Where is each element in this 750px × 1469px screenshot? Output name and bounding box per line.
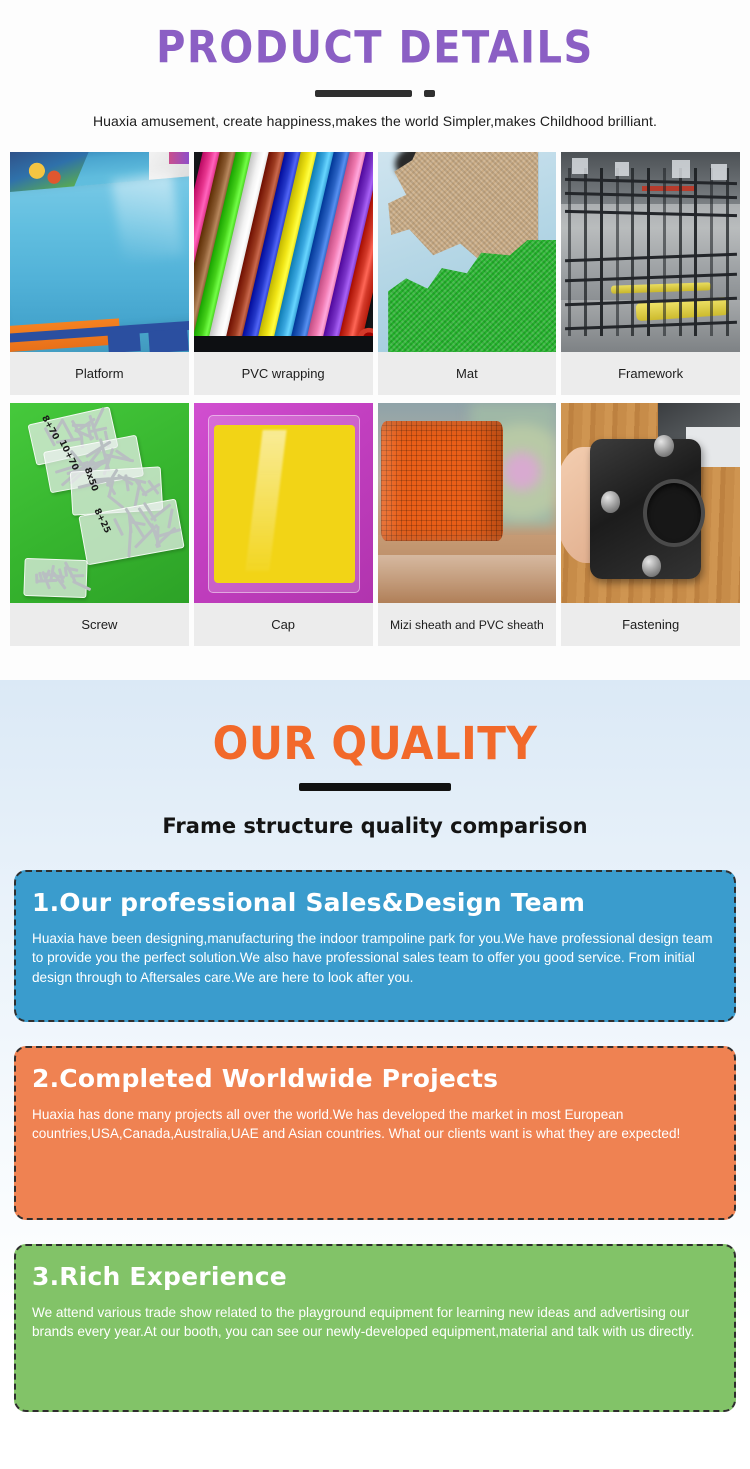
product-card-framework[interactable]: Framework: [561, 152, 740, 395]
product-grid: Platform PVC wrapping Mat: [10, 152, 740, 646]
quality-card-3: 3.Rich Experience We attend various trad…: [14, 1244, 736, 1412]
quality-card-heading: 1.Our professional Sales&Design Team: [32, 888, 718, 917]
our-quality-divider: [299, 783, 451, 791]
product-label: Framework: [561, 352, 740, 395]
our-quality-subtitle: Frame structure quality comparison: [0, 814, 750, 838]
quality-card-heading: 2.Completed Worldwide Projects: [32, 1064, 718, 1093]
product-card-mat[interactable]: Mat: [378, 152, 557, 395]
divider-bar: [315, 90, 412, 97]
our-quality-title: OUR QUALITY: [0, 680, 750, 770]
framework-photo: [561, 152, 740, 352]
product-card-screw[interactable]: 8+7010+708x508+25 Screw: [10, 403, 189, 646]
mizi-sheath-photo: [378, 403, 557, 603]
product-label: PVC wrapping: [194, 352, 373, 395]
quality-card-2: 2.Completed Worldwide Projects Huaxia ha…: [14, 1046, 736, 1220]
product-label: Screw: [10, 603, 189, 646]
product-label: Mizi sheath and PVC sheath: [378, 603, 557, 646]
platform-photo: [10, 152, 189, 352]
product-label: Platform: [10, 352, 189, 395]
title-divider: [315, 90, 435, 97]
screw-photo: 8+7010+708x508+25: [10, 403, 189, 603]
quality-card-1: 1.Our professional Sales&Design Team Hua…: [14, 870, 736, 1022]
page-title: PRODUCT DETAILS: [0, 0, 750, 72]
product-label: Cap: [194, 603, 373, 646]
page-subtitle: Huaxia amusement, create happiness,makes…: [0, 113, 750, 129]
page-root: PRODUCT DETAILS Huaxia amusement, create…: [0, 0, 750, 1469]
product-card-cap[interactable]: Cap: [194, 403, 373, 646]
product-label: Fastening: [561, 603, 740, 646]
quality-cards: 1.Our professional Sales&Design Team Hua…: [14, 870, 736, 1412]
our-quality-section: OUR QUALITY Frame structure quality comp…: [0, 680, 750, 1469]
cap-photo: [194, 403, 373, 603]
mat-photo: [378, 152, 557, 352]
pvc-wrapping-photo: [194, 152, 373, 352]
quality-card-body: Huaxia have been designing,manufacturing…: [32, 929, 718, 987]
product-card-fastening[interactable]: Fastening: [561, 403, 740, 646]
product-card-pvc-wrapping[interactable]: PVC wrapping: [194, 152, 373, 395]
divider-dot: [424, 90, 435, 97]
quality-card-body: We attend various trade show related to …: [32, 1303, 718, 1342]
product-label: Mat: [378, 352, 557, 395]
product-details-section: PRODUCT DETAILS Huaxia amusement, create…: [0, 0, 750, 680]
quality-card-heading: 3.Rich Experience: [32, 1262, 718, 1291]
product-card-mizi-sheath[interactable]: Mizi sheath and PVC sheath: [378, 403, 557, 646]
product-card-platform[interactable]: Platform: [10, 152, 189, 395]
fastening-photo: [561, 403, 740, 603]
quality-card-body: Huaxia has done many projects all over t…: [32, 1105, 718, 1144]
